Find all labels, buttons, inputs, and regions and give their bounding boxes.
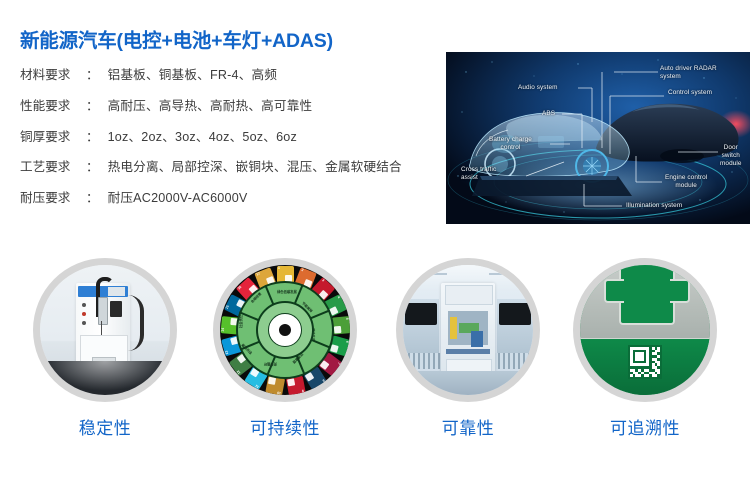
lab-indicator-3 (82, 321, 86, 325)
qr-module (657, 355, 660, 358)
feature-circle-frame (396, 258, 540, 402)
qr-module (657, 372, 660, 375)
spec-colon: ： (86, 100, 99, 113)
spec-value: 铝基板、铜基板、FR-4、高频 (108, 69, 390, 82)
sdg-segment-label: 社会责任 (238, 315, 243, 328)
car-label-control-system: Control system (668, 89, 712, 97)
spec-value: 热电分离、局部控深、嵌铜块、混压、金属软硬结合 (108, 161, 402, 174)
feature-item-stability[interactable]: 稳定性 (30, 258, 180, 437)
smt-beam-left (407, 273, 447, 275)
smt-center-machine (441, 283, 495, 381)
pcb-seam-line (580, 338, 710, 340)
spec-colon: ： (86, 192, 99, 205)
spec-label: 铜厚要求 (20, 131, 86, 144)
smt-yellow-module (450, 317, 457, 339)
spec-row-withstand-voltage: 耐压要求 ： 耐压AC2000V-AC6000V (20, 192, 390, 205)
spec-value: 耐压AC2000V-AC6000V (108, 192, 390, 205)
spec-label: 性能要求 (20, 100, 86, 113)
car-label-abs: ABS (542, 110, 555, 118)
smt-hood-left (405, 303, 437, 325)
smt-line-illustration (403, 265, 533, 395)
lab-tester-illustration (40, 265, 170, 395)
feature-item-traceability[interactable]: 可追溯性 (570, 258, 720, 437)
sdg-hub-center-dot (279, 324, 291, 336)
spec-colon: ： (86, 131, 99, 144)
spec-label: 材料要求 (20, 69, 86, 82)
car-label-battery-charge-control: Battery charge control (489, 136, 532, 152)
green-pcb-qr-code-photo (580, 265, 710, 395)
feature-item-sustainability[interactable]: 1234567891011121314151617 绿色低碳发展节能减排清洁生产… (210, 258, 360, 437)
feature-label-traceability: 可追溯性 (570, 420, 720, 437)
qr-module (630, 374, 633, 377)
feature-item-reliability[interactable]: 可靠性 (393, 258, 543, 437)
sdg-segment-label: 资源循环 (264, 362, 277, 367)
car-label-radar: Auto driver RADAR system (660, 65, 717, 81)
spec-list: 材料要求 ： 铝基板、铜基板、FR-4、高频 性能要求 ： 高耐压、高导热、高耐… (20, 69, 390, 204)
lab-floor-highlight (40, 361, 170, 395)
page-root: 新能源汽车(电控+电池+车灯+ADAS) 材料要求 ： 铝基板、铜基板、FR-4… (0, 0, 750, 480)
car-label-audio-system: Audio system (518, 84, 558, 92)
lab-tester-photo (40, 265, 170, 395)
feature-label-stability: 稳定性 (30, 420, 180, 437)
spec-colon: ： (86, 161, 99, 174)
sdg-tile: 1 (277, 266, 294, 283)
sdg-segment-label: 绿色低碳发展 (277, 289, 297, 294)
feature-circle-frame: 1234567891011121314151617 绿色低碳发展节能减排清洁生产… (213, 258, 357, 402)
spec-value: 高耐压、高导热、高耐热、高可靠性 (108, 100, 390, 113)
car-system-diagram-image: Auto driver RADAR system Control system … (446, 52, 750, 224)
lab-probe-head (98, 297, 108, 325)
qr-module (646, 374, 649, 377)
smt-center-rail (446, 349, 490, 354)
car-label-engine-control-module: Engine control module (665, 174, 707, 190)
qr-module (641, 358, 644, 361)
feature-label-sustainability: 可持续性 (210, 420, 360, 437)
qr-module (638, 374, 641, 377)
spec-value: 1oz、2oz、3oz、4oz、5oz、6oz (108, 131, 390, 144)
smt-floor (403, 371, 533, 395)
spec-label: 工艺要求 (20, 161, 86, 174)
pcb-illustration (580, 265, 710, 395)
smt-center-hood (445, 285, 493, 305)
qr-module (657, 363, 660, 366)
smt-production-line-photo (403, 265, 533, 395)
car-label-illumination-system: Illumination system (626, 202, 682, 210)
smt-hood-right (499, 303, 531, 325)
car-label-door-switch-module: Door switch module (720, 144, 742, 169)
smt-blue-module (471, 331, 483, 347)
qr-code (628, 345, 662, 379)
spec-colon: ： (86, 69, 99, 82)
spec-label: 耐压要求 (20, 192, 86, 205)
sdg-wheel-illustration: 1234567891011121314151617 绿色低碳发展节能减排清洁生产… (220, 265, 350, 395)
feature-list: 稳定性 1234567891011121314151617 绿色低碳发展节能减排… (0, 258, 750, 468)
spec-row-material: 材料要求 ： 铝基板、铜基板、FR-4、高频 (20, 69, 390, 82)
lab-cable (128, 295, 144, 351)
sdg-tile: 5 (332, 316, 350, 334)
spec-row-process: 工艺要求 ： 热电分离、局部控深、嵌铜块、混压、金属软硬结合 (20, 161, 390, 174)
sustainability-sdg-wheel: 1234567891011121314151617 绿色低碳发展节能减排清洁生产… (220, 265, 350, 395)
feature-label-reliability: 可靠性 (393, 420, 543, 437)
qr-module (646, 363, 649, 366)
qr-module (657, 350, 660, 353)
qr-module (655, 374, 658, 377)
feature-circle-frame (33, 258, 177, 402)
page-title: 新能源汽车(电控+电池+车灯+ADAS) (20, 30, 390, 53)
feature-circle-frame (573, 258, 717, 402)
car-label-cross-traffic-assist: Cross traffic assist (461, 166, 496, 182)
pcb-cutout-shape (619, 265, 675, 325)
lab-indicator-2 (82, 312, 86, 316)
lab-indicator-1 (82, 303, 86, 307)
smt-beam-right (489, 273, 529, 275)
spec-row-copper-thickness: 铜厚要求 ： 1oz、2oz、3oz、4oz、5oz、6oz (20, 131, 390, 144)
spec-row-performance: 性能要求 ： 高耐压、高导热、高耐热、高可靠性 (20, 100, 390, 113)
spec-block: 新能源汽车(电控+电池+车灯+ADAS) 材料要求 ： 铝基板、铜基板、FR-4… (20, 30, 390, 204)
